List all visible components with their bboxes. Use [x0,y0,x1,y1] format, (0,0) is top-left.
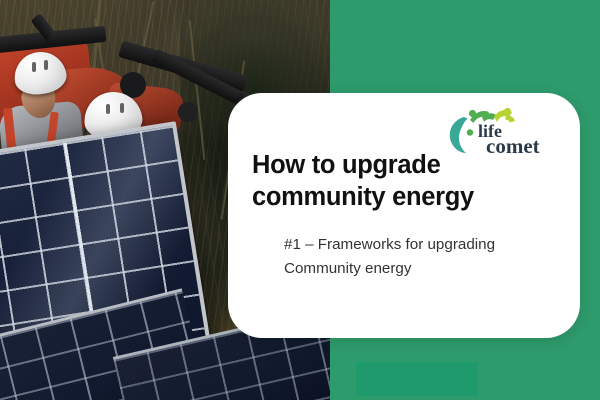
photo-crane-joint [178,102,198,122]
logo-crescent-icon [450,117,468,153]
logo-figure-lime-arm-icon [505,116,515,123]
content-card: life comet How to upgrade community ener… [228,93,580,338]
photo-helmet-vent [32,62,36,72]
photo-helmet-vent [44,60,48,70]
accent-rectangle [356,362,478,396]
photo-helmet-vent [106,104,110,114]
slide-canvas: life comet How to upgrade community ener… [0,0,600,400]
logo-dot-icon [467,129,473,135]
page-title: How to upgrade community energy [252,150,552,213]
logo-figure-green-head-icon [469,110,476,117]
page-subtitle: #1 – Frameworks for upgrading Community … [284,233,534,280]
photo-helmet-vent [120,103,124,113]
logo-figure-lime-head-icon [504,108,511,115]
